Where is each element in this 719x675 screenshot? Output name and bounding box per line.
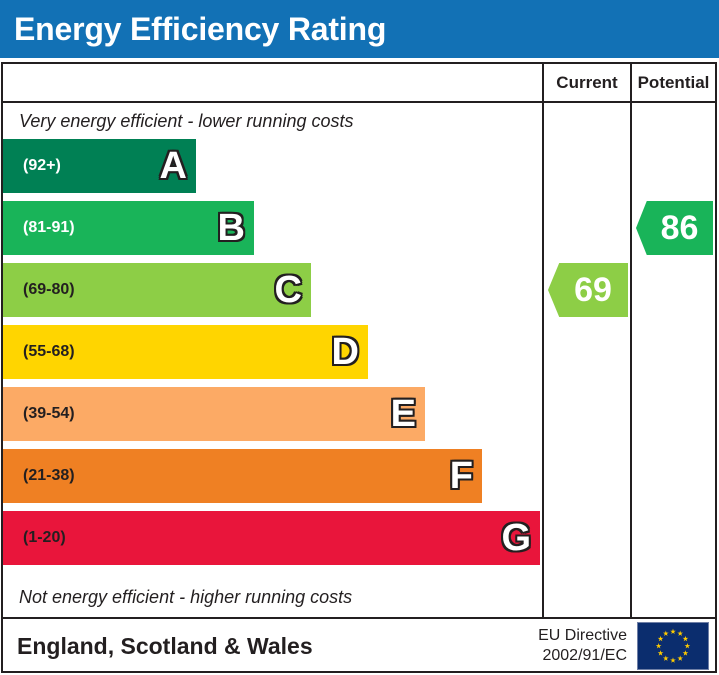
caption-very-efficient: Very energy efficient - lower running co…	[3, 103, 540, 139]
current-rating-arrow: 69	[548, 263, 628, 317]
caption-not-efficient: Not energy efficient - higher running co…	[3, 579, 540, 615]
page-title: Energy Efficiency Rating	[0, 13, 386, 45]
rating-bands: (92+) A (81-91) B (69-80) C (55-68) D (3…	[3, 139, 540, 579]
column-header-current: Current	[544, 64, 630, 101]
band-c-range: (69-80)	[3, 281, 75, 299]
band-g-range: (1-20)	[3, 529, 66, 547]
band-d-range: (55-68)	[3, 343, 75, 361]
band-e-letter: E	[391, 395, 416, 433]
current-column-divider	[542, 64, 544, 617]
rating-table: Current Potential Very energy efficient …	[1, 62, 717, 673]
footer-region-label: England, Scotland & Wales	[3, 633, 538, 660]
column-header-potential: Potential	[632, 64, 715, 101]
band-a-letter: A	[160, 147, 187, 185]
band-f-range: (21-38)	[3, 467, 75, 485]
potential-column-divider	[630, 64, 632, 617]
footer-directive: EU Directive 2002/91/EC	[538, 626, 637, 666]
footer-directive-line1: EU Directive	[538, 626, 627, 646]
eu-flag-icon	[637, 622, 709, 670]
band-g: (1-20) G	[3, 511, 540, 565]
band-b-range: (81-91)	[3, 219, 75, 237]
band-e-range: (39-54)	[3, 405, 75, 423]
band-a-range: (92+)	[3, 157, 61, 175]
band-d: (55-68) D	[3, 325, 368, 379]
chart-header-banner: Energy Efficiency Rating	[0, 0, 719, 58]
potential-rating-value: 86	[651, 211, 699, 245]
band-b-letter: B	[218, 209, 245, 247]
current-rating-value: 69	[564, 273, 612, 307]
band-c: (69-80) C	[3, 263, 311, 317]
band-a: (92+) A	[3, 139, 196, 193]
band-e: (39-54) E	[3, 387, 425, 441]
band-f: (21-38) F	[3, 449, 482, 503]
band-f-letter: F	[450, 457, 473, 495]
footer-directive-line2: 2002/91/EC	[538, 646, 627, 666]
band-g-letter: G	[501, 519, 531, 557]
band-d-letter: D	[332, 333, 359, 371]
band-b: (81-91) B	[3, 201, 254, 255]
chart-footer: England, Scotland & Wales EU Directive 2…	[3, 619, 715, 673]
potential-rating-arrow: 86	[636, 201, 713, 255]
band-c-letter: C	[275, 271, 302, 309]
energy-efficiency-rating-chart: Energy Efficiency Rating Current Potenti…	[0, 0, 719, 675]
